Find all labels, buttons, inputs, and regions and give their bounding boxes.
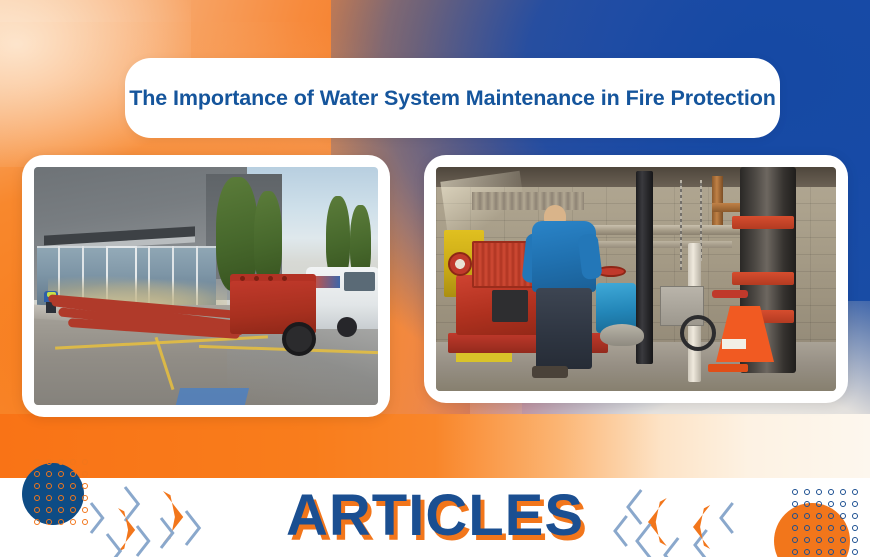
- trailer-wheel: [282, 322, 316, 356]
- photo-left: [34, 167, 378, 405]
- van-window: [344, 272, 375, 291]
- hanging-chain: [680, 180, 682, 270]
- traffic-cone-band: [722, 339, 746, 349]
- van-wheel: [337, 317, 357, 337]
- tree-icon: [254, 191, 282, 286]
- pipe-flange: [732, 272, 794, 285]
- articles-banner: The Importance of Water System Maintenan…: [0, 0, 870, 557]
- traffic-cone-base: [708, 364, 748, 372]
- yellow-skid-foot: [456, 353, 512, 362]
- title-card: The Importance of Water System Maintenan…: [125, 58, 780, 138]
- photo-right: [436, 167, 836, 391]
- blue-pavement-marking: [176, 388, 249, 405]
- valve-body: [600, 324, 644, 346]
- wordmark-container: ARTICLES: [0, 482, 870, 552]
- background-bottom-band: [0, 414, 870, 478]
- traffic-cone: [716, 306, 774, 362]
- pipe-bank: [472, 192, 584, 210]
- hand-wheel-icon: [680, 315, 716, 351]
- page-title: The Importance of Water System Maintenan…: [129, 86, 776, 111]
- worker-pants: [536, 288, 592, 369]
- worker-shoe: [532, 366, 568, 377]
- van-logo: [313, 276, 341, 288]
- photo-card-right[interactable]: [424, 155, 848, 403]
- pressure-gauge: [448, 252, 472, 276]
- red-lever: [712, 290, 748, 298]
- copper-pipe: [712, 176, 723, 225]
- articles-wordmark: ARTICLES: [286, 482, 584, 549]
- photo-card-left[interactable]: [22, 155, 390, 417]
- pump-motor-block: [492, 290, 528, 321]
- pipe-flange: [732, 216, 794, 229]
